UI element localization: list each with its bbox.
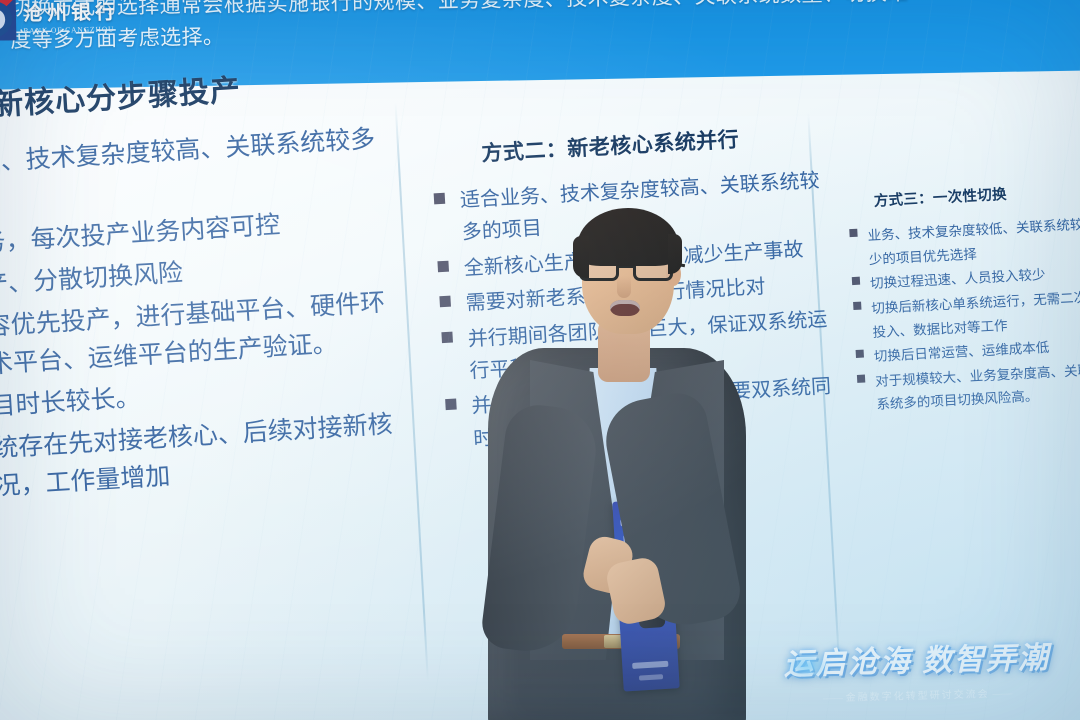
column-3-heading: 方式三：一次性切换: [873, 179, 1080, 211]
slide-column-1: 方式一：新核心分步骤投产 适合业务、技术复杂度较高、关联系统较多的项目 拆分业务…: [0, 56, 419, 518]
speaker-hair: [577, 208, 679, 266]
bullet-text: 整体项目时长较长。: [0, 384, 141, 426]
square-bullet-icon: [434, 193, 446, 205]
square-bullet-icon: [439, 296, 451, 308]
event-banner: 运启沧海 数智弄潮 —— 金融数字化转型研讨交流会 ——: [761, 632, 1073, 706]
bullet-text: 业务、技术复杂度较低、关联系统较少的项目优先选择: [867, 217, 1080, 267]
bullet-text: 切换后新核心单系统运行，无需二次投入、数据比对等工作: [871, 290, 1080, 340]
square-bullet-icon: [437, 260, 449, 272]
square-bullet-icon: [853, 302, 861, 310]
bullet-text: 对于规模较大、业务复杂度高、关联系统多的项目切换风险高。: [875, 362, 1080, 412]
slide-intro-text: 目前主流的切换方式为三种：新老核心系统并行使用、新核心分步骤投产、一次性切换、 …: [9, 0, 1080, 57]
column-3-bullets: 业务、技术复杂度较低、关联系统较少的项目优先选择 切换过程迅速、人员投入较少 切…: [867, 213, 1080, 417]
slide-column-3: 方式三：一次性切换 业务、技术复杂度较低、关联系统较少的项目优先选择 切换过程迅…: [835, 179, 1080, 420]
speaker-figure: [470, 200, 770, 720]
bullet-text: 切换后日常运营、运维成本低: [874, 340, 1050, 364]
column-2-heading: 方式二：新老核心系统并行: [481, 119, 820, 168]
conference-photo: 信创环境的切换方式 目前主流的切换方式为三种：新老核心系统并行使用、新核心分步骤…: [0, 0, 1080, 720]
square-bullet-icon: [441, 331, 453, 343]
bullet-text: 部分系统存在先对接老核心、后续对接新核心的情况，工作量增加: [0, 410, 393, 505]
bank-logo-name-en: BANK OF CANGZHOU: [23, 25, 119, 34]
bank-logo: 沧州银行 BANK OF CANGZHOU: [0, 0, 127, 43]
square-bullet-icon: [445, 399, 457, 411]
bank-logo-mark-icon: [0, 0, 17, 41]
square-bullet-icon: [852, 277, 860, 285]
column-1-bullets: 适合业务、技术复杂度较高、关联系统较多的项目 拆分业务，每次投产业务内容可控 多…: [0, 118, 419, 510]
bullet-text: 切换过程迅速、人员投入较少: [870, 267, 1046, 291]
square-bullet-icon: [849, 229, 857, 237]
speaker-mouth: [610, 300, 640, 316]
square-bullet-icon: [857, 374, 865, 382]
bank-logo-name-cn: 沧州银行: [23, 2, 119, 24]
square-bullet-icon: [856, 350, 864, 358]
